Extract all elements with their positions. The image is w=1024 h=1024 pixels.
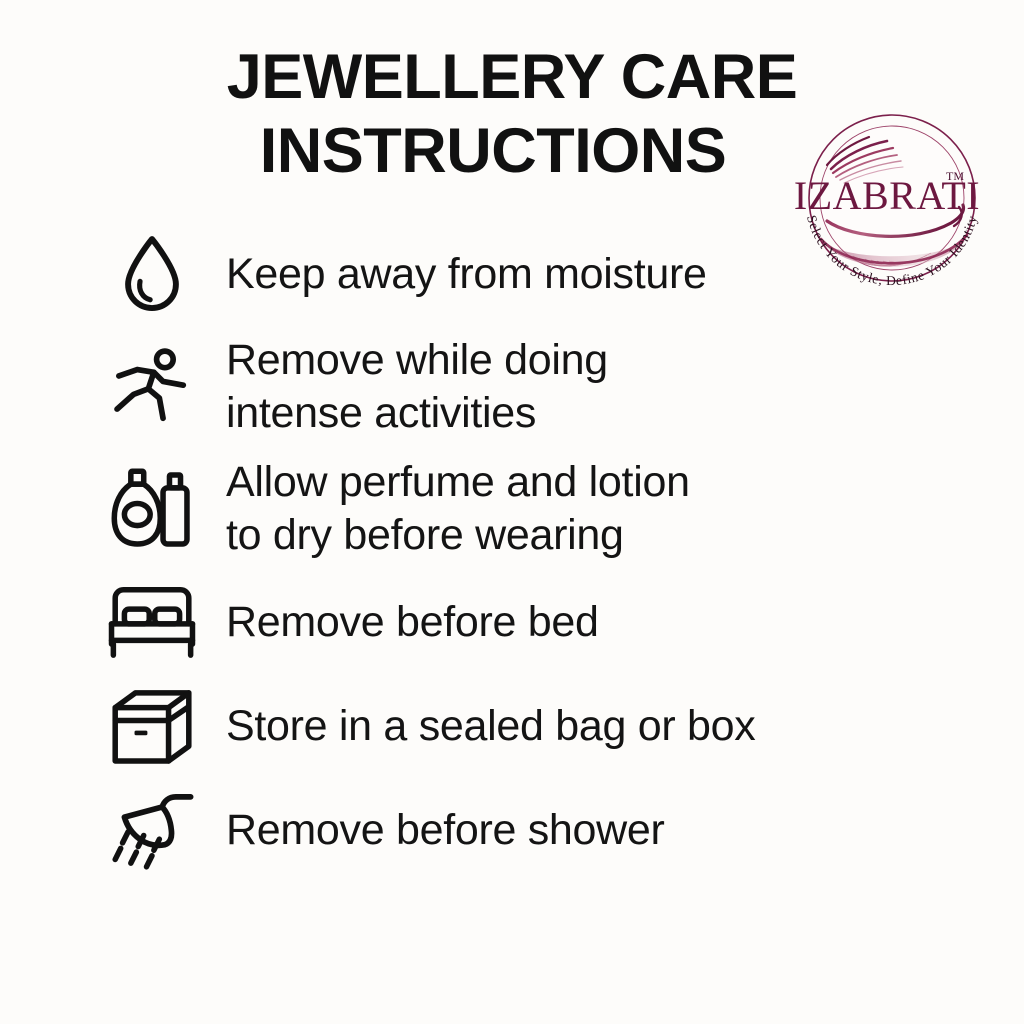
logo-trademark: TM [946,169,964,183]
list-item: Keep away from moisture [0,222,1024,326]
list-item-label: Remove before bed [226,596,1024,649]
list-item: Remove before bed [0,570,1024,674]
perfume-lotion-bottles-icon [100,457,204,561]
list-item-label: Keep away from moisture [226,248,1024,301]
care-instructions-list: Keep away from moisture Remove while doi… [0,222,1024,882]
storage-box-icon [100,674,204,778]
list-item-label: Allow perfume and lotion to dry before w… [226,456,1024,562]
list-item: Remove while doing intense activities [0,326,1024,448]
list-item: Allow perfume and lotion to dry before w… [0,448,1024,570]
list-item-label: Remove while doing intense activities [226,334,1024,440]
list-item: Remove before shower [0,778,1024,882]
list-item-label: Remove before shower [226,804,1024,857]
shower-head-icon [100,778,204,882]
care-instructions-card: JEWELLERY CARE INSTRUCTIONS [0,0,1024,1024]
list-item: Store in a sealed bag or box [0,674,1024,778]
bed-icon [100,570,204,674]
water-drop-icon [100,222,204,326]
running-person-icon [100,335,204,439]
list-item-label: Store in a sealed bag or box [226,700,1024,753]
